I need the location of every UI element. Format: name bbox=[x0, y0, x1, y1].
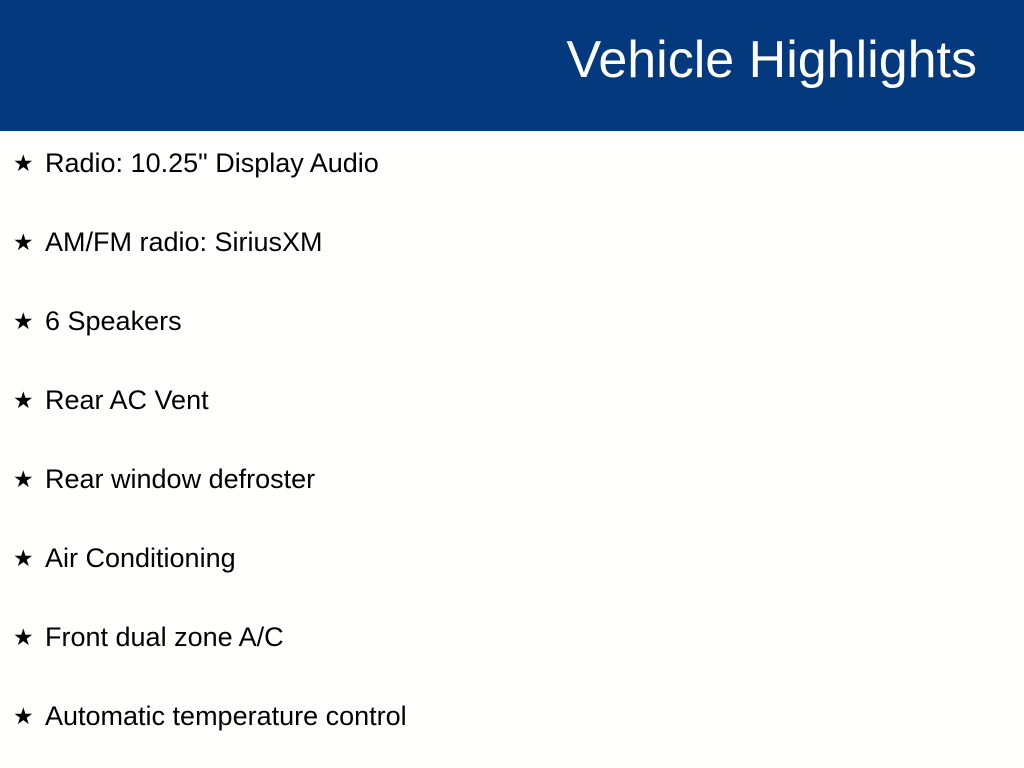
list-item: ★ 6 Speakers bbox=[0, 289, 1024, 368]
header-banner: Vehicle Highlights bbox=[0, 0, 1024, 131]
list-item: ★ AM/FM radio: SiriusXM bbox=[0, 210, 1024, 289]
highlights-list: ★ Radio: 10.25" Display Audio ★ AM/FM ra… bbox=[0, 131, 1024, 763]
highlight-label: Rear AC Vent bbox=[45, 383, 209, 417]
highlight-label: 6 Speakers bbox=[45, 304, 182, 338]
star-icon: ★ bbox=[13, 624, 37, 652]
page-title: Vehicle Highlights bbox=[567, 29, 977, 91]
star-icon: ★ bbox=[13, 545, 37, 573]
highlight-label: AM/FM radio: SiriusXM bbox=[45, 225, 323, 259]
star-icon: ★ bbox=[13, 466, 37, 494]
star-icon: ★ bbox=[13, 387, 37, 415]
list-item: ★ Automatic temperature control bbox=[0, 684, 1024, 763]
highlight-label: Automatic temperature control bbox=[45, 699, 407, 733]
list-item: ★ Rear AC Vent bbox=[0, 368, 1024, 447]
star-icon: ★ bbox=[13, 229, 37, 257]
star-icon: ★ bbox=[13, 703, 37, 731]
highlight-label: Front dual zone A/C bbox=[45, 620, 284, 654]
vehicle-highlights-slide: Vehicle Highlights ★ Radio: 10.25" Displ… bbox=[0, 0, 1024, 768]
list-item: ★ Rear window defroster bbox=[0, 447, 1024, 526]
list-item: ★ Air Conditioning bbox=[0, 526, 1024, 605]
highlight-label: Rear window defroster bbox=[45, 462, 315, 496]
star-icon: ★ bbox=[13, 150, 37, 178]
highlight-label: Radio: 10.25" Display Audio bbox=[45, 146, 379, 180]
list-item: ★ Radio: 10.25" Display Audio bbox=[0, 131, 1024, 210]
highlight-label: Air Conditioning bbox=[45, 541, 236, 575]
star-icon: ★ bbox=[13, 308, 37, 336]
list-item: ★ Front dual zone A/C bbox=[0, 605, 1024, 684]
